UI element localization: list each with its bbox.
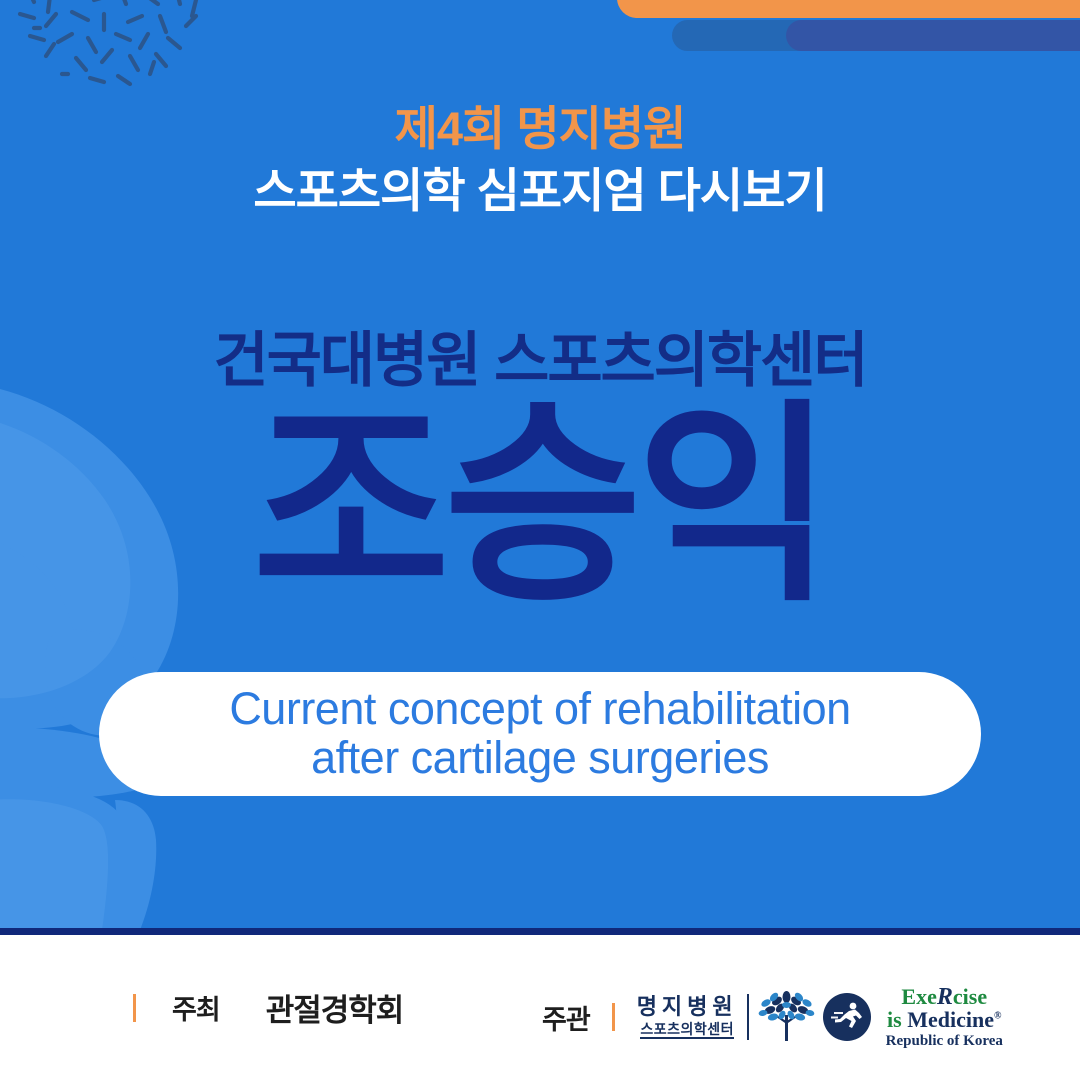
lecture-title-line-2: after cartilage surgeries bbox=[311, 732, 769, 783]
exercise-is-medicine-logo: ExeRcise is Medicine® Republic of Korea bbox=[886, 985, 1003, 1049]
host-divider-icon bbox=[133, 994, 136, 1022]
host-label: 주최 bbox=[172, 988, 220, 1027]
poster-canvas: 제4회 명지병원 스포츠의학 심포지엄 다시보기 건국대병원 스포츠의학센터 조… bbox=[0, 0, 1080, 1080]
runner-icon bbox=[822, 992, 872, 1042]
rx-icon: R bbox=[937, 984, 953, 1010]
poster-stage: 제4회 명지병원 스포츠의학 심포지엄 다시보기 건국대병원 스포츠의학센터 조… bbox=[0, 0, 1080, 928]
host-group: 주최 관절경학회 bbox=[133, 985, 403, 1030]
myongji-logo-subtitle: 스포츠의학센터 bbox=[640, 1022, 734, 1039]
stage-bottom-rule bbox=[0, 928, 1080, 935]
poster-kicker: 제4회 명지병원 스포츠의학 심포지엄 다시보기 bbox=[0, 104, 1080, 217]
decor-bar-navy bbox=[786, 20, 1080, 51]
logo-separator bbox=[747, 994, 749, 1040]
decor-bar-orange bbox=[617, 0, 1080, 18]
lecture-title-text: Current concept of rehabilitation after … bbox=[199, 685, 880, 782]
poster-footer: 주최 관절경학회 주관 명지병원 스포츠의학센터 bbox=[0, 935, 1080, 1080]
host-value: 관절경학회 bbox=[266, 985, 404, 1030]
lecture-title-line-1: Current concept of rehabilitation bbox=[229, 683, 850, 734]
lecture-title-pill: Current concept of rehabilitation after … bbox=[99, 672, 981, 796]
tree-icon bbox=[758, 991, 816, 1043]
kicker-line-1: 제4회 명지병원 bbox=[0, 104, 1080, 155]
myongji-logo-name: 명지병원 bbox=[637, 996, 738, 1018]
organizer-group: 주관 명지병원 스포츠의학센터 bbox=[542, 985, 1003, 1049]
eim-line-1: ExeRcise bbox=[901, 985, 987, 1009]
organizer-label: 주관 bbox=[542, 998, 590, 1037]
eim-line-3: Republic of Korea bbox=[886, 1034, 1003, 1049]
organizer-divider-icon bbox=[612, 1003, 615, 1031]
eim-line-2: is Medicine® bbox=[887, 1009, 1001, 1031]
dash-speckle-pattern bbox=[0, 0, 240, 92]
kicker-line-2: 스포츠의학 심포지엄 다시보기 bbox=[0, 166, 1080, 217]
myongji-hospital-logo: 명지병원 스포츠의학센터 bbox=[637, 996, 738, 1039]
speaker-name: 조승익 bbox=[0, 398, 1080, 613]
